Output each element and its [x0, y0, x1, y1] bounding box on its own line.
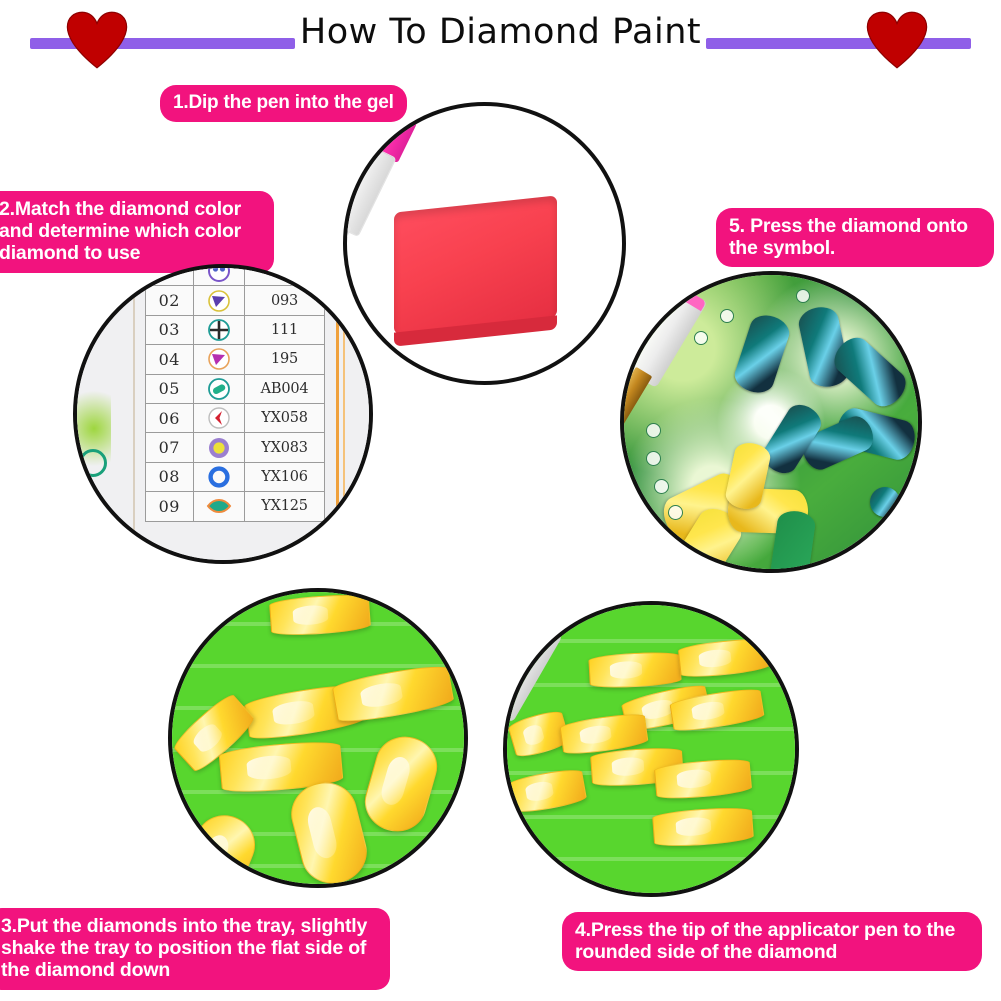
- row-code: YX125: [245, 492, 325, 521]
- dot-in-ring-symbol: [206, 435, 232, 461]
- table-row: 03 111: [146, 315, 325, 344]
- dots-circle-symbol: [206, 264, 232, 284]
- row-symbol: [193, 492, 245, 521]
- table-row: 07 YX083: [146, 433, 325, 462]
- step-4-label: 4.Press the tip of the applicator pen to…: [562, 912, 982, 971]
- triangle-symbol: [206, 288, 232, 314]
- chart-orange-rule-2: [343, 264, 345, 564]
- chart-margin-line: [133, 264, 135, 564]
- row-code: 093: [245, 286, 325, 315]
- diamond-canvas-photo: [624, 275, 918, 569]
- step-3-photo: [168, 588, 468, 888]
- pen-metal-tip: [620, 367, 652, 430]
- tray-ridge: [507, 857, 795, 861]
- canvas-symbol-dot: [654, 479, 669, 494]
- diamond-gem: [331, 662, 455, 726]
- step-3-label: 3.Put the diamonds into the tray, slight…: [0, 908, 390, 990]
- pen-body: [503, 618, 563, 723]
- row-number: 08: [146, 462, 194, 491]
- page-title: How To Diamond Paint: [0, 12, 1001, 52]
- row-code: 111: [245, 315, 325, 344]
- gel-pad: [394, 195, 557, 334]
- row-code: 028: [245, 264, 325, 286]
- page-header: How To Diamond Paint: [0, 0, 1001, 78]
- row-number: [146, 264, 194, 286]
- canvas-symbol-dot: [646, 451, 661, 466]
- row-symbol: [193, 403, 245, 432]
- row-code: YX106: [245, 462, 325, 491]
- table-row: 02 093: [146, 286, 325, 315]
- canvas-symbol-dot: [646, 423, 661, 438]
- row-number: 04: [146, 345, 194, 374]
- table-row: 09 YX125: [146, 492, 325, 521]
- diamond-gem: [269, 593, 371, 638]
- diamond-gem: [172, 806, 264, 888]
- applicator-pen: [620, 283, 709, 445]
- row-number: 05: [146, 374, 194, 403]
- triangle-symbol: [206, 346, 232, 372]
- diamond-gem: [731, 311, 793, 398]
- table-row: 08 YX106: [146, 462, 325, 491]
- row-symbol: [193, 315, 245, 344]
- canvas-symbol-dot: [720, 309, 734, 323]
- canvas-symbol-dot: [668, 505, 683, 520]
- row-number: 07: [146, 433, 194, 462]
- pen-metal-tip: [503, 702, 509, 765]
- row-number: 03: [146, 315, 194, 344]
- row-code: AB004: [245, 374, 325, 403]
- canvas-symbol-dot: [880, 525, 898, 543]
- row-symbol: [193, 462, 245, 491]
- row-code: 195: [245, 345, 325, 374]
- row-number: 09: [146, 492, 194, 521]
- diamond-tray-photo: [172, 592, 464, 884]
- chevron-left-symbol: [206, 405, 232, 431]
- row-symbol: [193, 374, 245, 403]
- capsule-symbol: [206, 376, 232, 402]
- diamond-gem: [652, 806, 754, 849]
- row-code: YX058: [245, 403, 325, 432]
- step-1-photo: [343, 102, 626, 385]
- diamond-pickup-photo: [507, 605, 795, 893]
- plus-symbol: [206, 317, 232, 343]
- color-code-table: 028 02 093 03: [145, 264, 325, 522]
- diamond-gem: [588, 651, 682, 690]
- row-symbol: [193, 433, 245, 462]
- pen-body: [343, 142, 397, 237]
- canvas-symbol-blur: [79, 449, 107, 477]
- table-row: 05 AB004: [146, 374, 325, 403]
- diamond-gem: [358, 729, 444, 838]
- row-symbol: [193, 264, 245, 286]
- table-row: 028: [146, 264, 325, 286]
- row-symbol: [193, 286, 245, 315]
- row-number: 02: [146, 286, 194, 315]
- diamond-gem: [870, 487, 900, 517]
- row-symbol: [193, 345, 245, 374]
- table-row: 04 195: [146, 345, 325, 374]
- chart-orange-rule: [336, 264, 339, 564]
- color-chart-photo: 028 02 093 03: [77, 268, 369, 560]
- canvas-symbol-dot: [694, 331, 708, 345]
- canvas-symbol-dot: [796, 289, 810, 303]
- ring-symbol: [206, 464, 232, 490]
- step-5-photo: [620, 271, 922, 573]
- step-2-label: 2.Match the diamond color and determine …: [0, 191, 274, 273]
- step-2-photo: 028 02 093 03: [73, 264, 373, 564]
- row-code: YX083: [245, 433, 325, 462]
- canvas-symbol-dot: [864, 293, 878, 307]
- step-4-photo: [503, 601, 799, 897]
- pen-gel-photo: [347, 106, 622, 381]
- step-5-label: 5. Press the diamond onto the symbol.: [716, 208, 994, 267]
- table-row: 06 YX058: [146, 403, 325, 432]
- leaf-symbol: [206, 493, 232, 519]
- row-number: 06: [146, 403, 194, 432]
